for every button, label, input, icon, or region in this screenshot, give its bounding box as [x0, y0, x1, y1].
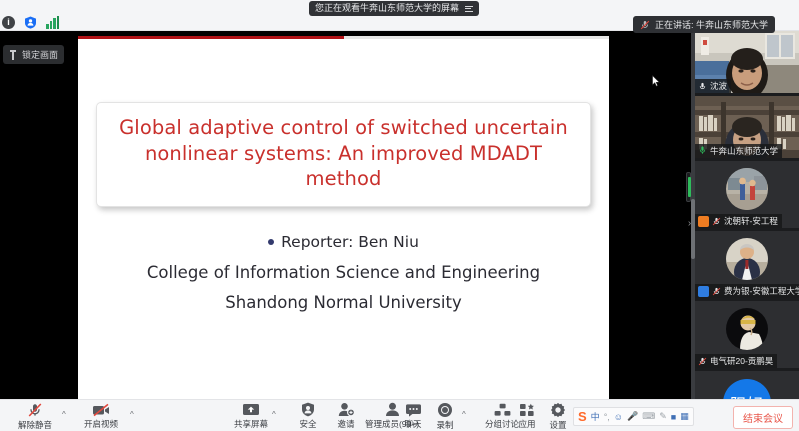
toolbar-item-unmute[interactable]: 解除静音	[12, 402, 58, 430]
participant-name-bar: 费为银-安徽工程大学	[695, 284, 799, 298]
audio-level-meter	[686, 172, 691, 202]
viewing-notice-label: 您正在观看牛奔山东师范大学的屏幕	[315, 4, 459, 13]
participant-name-bar: 沈波	[695, 79, 731, 93]
camera-off-icon	[92, 402, 110, 417]
avatar	[726, 168, 768, 210]
collapse-panel-arrow-icon[interactable]: ›	[684, 215, 695, 231]
input-method-bar[interactable]: S 中 °, ☺ 🎤 ⌨ ✎ ■ ▦	[573, 407, 694, 426]
participant-name-bar: 牛奔山东师范大学	[695, 144, 782, 158]
chevron-up-icon-audio[interactable]: ^	[62, 410, 66, 419]
chevron-up-icon-record[interactable]: ^	[462, 410, 466, 419]
info-icon: i	[2, 16, 15, 29]
mouse-pointer-icon	[652, 74, 660, 86]
smiley-icon[interactable]: ☺	[614, 412, 623, 422]
participant-name: 沈波	[710, 80, 727, 92]
participant-tile[interactable]: 沈朝轩-安工程	[695, 161, 799, 228]
page-title: Global adaptive control of switched unce…	[111, 115, 576, 192]
toolbar-label: 开启视频	[84, 418, 118, 430]
half-width-icon[interactable]: °,	[604, 412, 610, 422]
participant-tile[interactable]: 阳好 ▾	[695, 371, 799, 399]
lock-screen-label: 锁定画面	[22, 48, 58, 61]
mic-muted-icon	[27, 402, 43, 418]
ime-mode-label[interactable]: 中	[591, 410, 600, 423]
avatar-initials: 阳好	[723, 379, 771, 399]
slide-reporter-line: Reporter: Ben Niu	[268, 233, 419, 251]
toolbox-icon[interactable]: ■	[671, 412, 676, 422]
shield-icon	[24, 16, 37, 29]
pin-icon	[9, 50, 17, 60]
participant-status-badge-icon	[698, 216, 709, 227]
meeting-toolbar: 解除静音 ^ 开启视频 ^ 共享屏幕 ^ 安全 邀请	[0, 399, 799, 431]
end-meeting-button[interactable]: 结束会议	[733, 406, 793, 429]
slide-affiliation-college: College of Information Science and Engin…	[78, 263, 609, 282]
screen-share-icon	[242, 402, 260, 417]
mic-muted-icon	[698, 357, 707, 366]
chevron-up-icon-video[interactable]: ^	[130, 410, 134, 419]
mic-muted-icon	[698, 82, 707, 91]
chat-bubble-icon	[405, 402, 422, 417]
record-circle-icon	[437, 402, 453, 418]
sogou-logo-icon[interactable]: S	[578, 410, 587, 423]
toolbar-item-share-screen[interactable]: 共享屏幕	[228, 402, 274, 430]
participant-rail[interactable]: 沈波	[695, 31, 799, 399]
participant-name: 牛奔山东师范大学	[710, 145, 778, 157]
participant-tile[interactable]: 沈波	[695, 31, 799, 93]
system-tray-icons: i	[2, 16, 59, 29]
active-speaker-banner: 正在讲话: 牛奔山东师范大学	[633, 16, 775, 33]
toolbar-label: 应用	[518, 418, 535, 430]
participant-name: 电气研20-贡鹏昊	[710, 355, 773, 367]
hamburger-icon[interactable]	[465, 6, 473, 12]
toolbar-label: 共享屏幕	[234, 418, 268, 430]
participant-name-bar: 沈朝轩-安工程	[695, 214, 782, 228]
mic-muted-icon	[712, 287, 721, 296]
apps-grid-icon	[519, 402, 535, 417]
participant-name: 沈朝轩-安工程	[724, 215, 778, 227]
handwriting-icon[interactable]: ✎	[659, 411, 667, 422]
participant-name: 费为银-安徽工程大学	[724, 285, 799, 297]
apps-icon[interactable]: ▦	[680, 411, 689, 422]
slide-reporter-label: Reporter: Ben Niu	[281, 233, 419, 251]
slide-affiliation-university: Shandong Normal University	[78, 293, 609, 312]
toolbar-label: 设置	[549, 419, 566, 431]
participant-tile[interactable]: 电气研20-贡鹏昊	[695, 301, 799, 368]
toolbar-item-start-video[interactable]: 开启视频	[78, 402, 124, 430]
participant-tile[interactable]: 牛奔山东师范大学	[695, 96, 799, 158]
slide-progress-bar	[78, 36, 609, 39]
toolbar-label: 解除静音	[18, 419, 52, 431]
gear-icon	[550, 402, 566, 418]
bullet-icon	[268, 239, 274, 245]
toolbar-label: 录制	[436, 419, 453, 431]
chevron-up-icon-share[interactable]: ^	[272, 410, 276, 419]
zoom-meeting-window: i 您正在观看牛奔山东师范大学的屏幕 锁定画面 Global adaptive …	[0, 0, 799, 431]
mic-icon[interactable]: 🎤	[627, 411, 638, 422]
toolbar-label: 安全	[299, 418, 316, 430]
mic-muted-icon	[712, 217, 721, 226]
mic-muted-icon	[640, 20, 649, 29]
viewing-screen-notice: 您正在观看牛奔山东师范大学的屏幕	[309, 1, 479, 16]
mic-on-icon	[698, 145, 707, 157]
signal-bars-icon	[46, 16, 59, 29]
toolbar-label: 聊天	[404, 418, 421, 430]
active-speaker-label: 正在讲话: 牛奔山东师范大学	[655, 18, 768, 31]
lock-screen-button[interactable]: 锁定画面	[3, 45, 64, 64]
presentation-slide: Global adaptive control of switched unce…	[78, 36, 609, 399]
shield-icon	[301, 402, 315, 417]
avatar	[726, 238, 768, 280]
shared-screen-stage: 锁定画面 Global adaptive control of switched…	[0, 31, 695, 399]
participant-status-badge-icon	[698, 286, 709, 297]
slide-body: Reporter: Ben Niu College of Information…	[78, 232, 609, 312]
avatar	[726, 308, 768, 350]
participant-name-bar: 电气研20-贡鹏昊	[695, 354, 777, 368]
keyboard-icon[interactable]: ⌨	[642, 411, 655, 422]
participant-tile[interactable]: 费为银-安徽工程大学	[695, 231, 799, 298]
slide-title-box: Global adaptive control of switched unce…	[96, 102, 591, 207]
avatar-initials-label: 阳好	[730, 391, 764, 399]
